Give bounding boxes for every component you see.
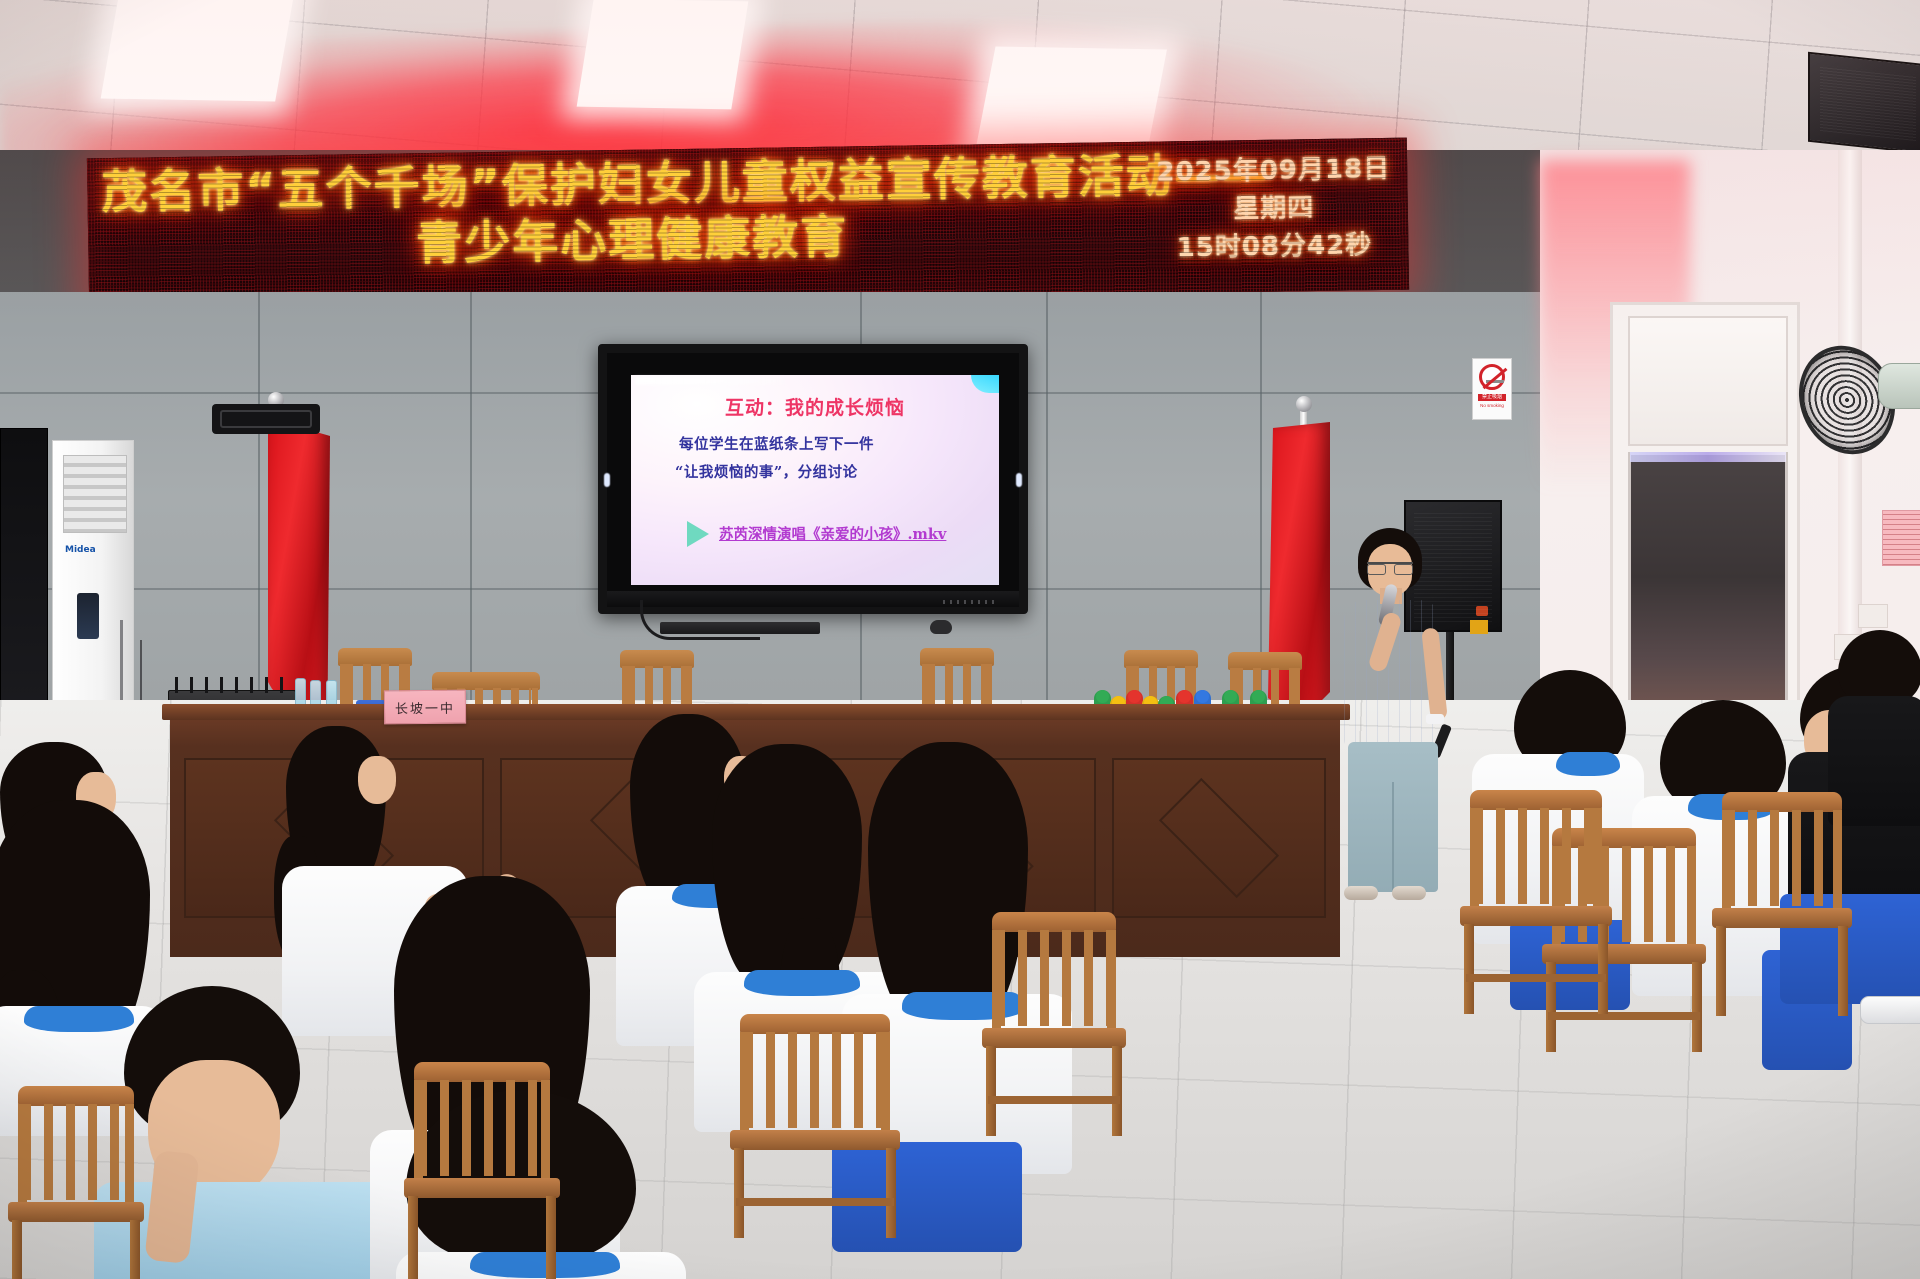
chair-seat[interactable] xyxy=(1712,908,1852,928)
slide-title: 互动：我的成长烦恼 xyxy=(631,393,999,420)
speaker-power-led xyxy=(1476,606,1488,616)
tv-wall-mount-bracket xyxy=(212,404,320,434)
chair-seat[interactable] xyxy=(730,1130,900,1150)
led-banner: 茂名市“五个千场”保护妇女儿童权益宣传教育活动—— 青少年心理健康教育 2025… xyxy=(87,138,1409,311)
chair-leg xyxy=(1112,1046,1122,1136)
bezel-led-right xyxy=(1016,473,1022,487)
chair-leg xyxy=(886,1148,896,1238)
screen-glare-reflection xyxy=(635,377,785,385)
no-smoking-label-cn: 禁止吸烟 xyxy=(1478,394,1506,401)
chair-top-rail xyxy=(18,1086,134,1106)
chair-seat[interactable] xyxy=(8,1202,144,1222)
chair-leg xyxy=(986,1046,996,1136)
cigarette-icon xyxy=(1486,380,1504,383)
presenter xyxy=(1330,528,1460,928)
presenter-trousers xyxy=(1348,742,1438,892)
door-transom-panel xyxy=(1628,316,1788,446)
chair-stretcher xyxy=(1466,974,1606,982)
led-weekday: 星期四 xyxy=(1154,188,1395,230)
wooden-chair[interactable] xyxy=(740,1014,890,1279)
led-banner-datetime: 2025年09月18日 星期四 15时08分42秒 xyxy=(1153,150,1395,268)
chair-side-stiles xyxy=(18,1104,134,1204)
chair-top-rail xyxy=(414,1062,550,1082)
wall-socket[interactable] xyxy=(1858,604,1888,628)
chair-leg xyxy=(546,1196,556,1279)
red-flag-left xyxy=(268,418,330,718)
chair-side-stiles xyxy=(1722,810,1842,910)
wooden-chair[interactable] xyxy=(992,912,1116,1152)
cable-tape-marker xyxy=(1470,620,1488,634)
led-date: 2025年09月18日 xyxy=(1153,150,1394,192)
glasses-icon xyxy=(1367,562,1413,572)
table-name-sign: 长坡一中 xyxy=(384,690,466,725)
board-cable xyxy=(640,600,760,640)
student-left-4 xyxy=(104,986,404,1279)
chair-leg xyxy=(1692,962,1702,1052)
bezel-led-left xyxy=(604,473,610,487)
chair-leg xyxy=(1838,926,1848,1016)
chair-stretcher xyxy=(988,1096,1120,1104)
smart-board-control-dots[interactable] xyxy=(943,600,995,604)
wooden-chair[interactable] xyxy=(414,1062,550,1279)
play-triangle-icon xyxy=(687,521,709,547)
wooden-chair[interactable] xyxy=(1722,792,1842,1062)
no-smoking-label-en: No smoking xyxy=(1480,403,1504,408)
keyboard[interactable] xyxy=(660,622,820,634)
wall-fan[interactable] xyxy=(1800,335,1920,463)
wooden-chair[interactable] xyxy=(1470,790,1602,1070)
chair-seat[interactable] xyxy=(1460,906,1612,926)
wall-seam xyxy=(258,292,260,722)
presenter-shoe xyxy=(1392,886,1426,900)
chair-leg xyxy=(1464,924,1474,1014)
aircon-display-panel[interactable] xyxy=(77,593,99,639)
no-smoking-sign: 禁止吸烟 No smoking xyxy=(1472,358,1512,420)
led-banner-headline: 茂名市“五个千场”保护妇女儿童权益宣传教育活动—— 青少年心理健康教育 xyxy=(101,148,1163,277)
door-glass-highlight xyxy=(1630,452,1786,462)
podium-panel xyxy=(1112,758,1326,918)
ceiling-light-panel-2 xyxy=(577,0,749,109)
wall-poster xyxy=(1882,510,1920,566)
smart-board[interactable]: 互动：我的成长烦恼 每位学生在蓝纸条上写下一件 “让我烦恼的事”，分组讨论 苏芮… xyxy=(598,344,1028,614)
student-hair xyxy=(1838,630,1920,704)
chair-top-rail xyxy=(992,912,1116,932)
ceiling xyxy=(0,0,1920,168)
chair-leg xyxy=(130,1220,140,1279)
student-face xyxy=(358,756,396,804)
ceiling-speaker xyxy=(1808,52,1920,155)
uniform-collar xyxy=(1556,752,1620,776)
flag-finial-right xyxy=(1296,396,1312,412)
chair-top-rail xyxy=(1722,792,1842,812)
aircon-vent-louvers xyxy=(63,455,127,533)
wall-seam xyxy=(1046,292,1048,722)
presenter-shoe xyxy=(1344,886,1378,900)
chair-side-stiles xyxy=(414,1080,550,1180)
chair-leg xyxy=(1598,924,1608,1014)
wooden-chair[interactable] xyxy=(18,1086,134,1279)
fan-motor-housing xyxy=(1878,363,1920,409)
aircon-brand-label: Midea xyxy=(65,545,96,555)
chair-side-stiles xyxy=(1470,808,1602,908)
no-smoking-icon xyxy=(1479,364,1505,390)
chair-leg xyxy=(408,1196,418,1279)
chair-seat[interactable] xyxy=(404,1178,560,1198)
chair-leg xyxy=(1716,926,1726,1016)
chair-top-rail xyxy=(740,1014,890,1034)
led-time: 15时08分42秒 xyxy=(1154,226,1395,268)
chair-side-stiles xyxy=(992,930,1116,1030)
chair-leg xyxy=(12,1220,22,1279)
slide-body-line-2: “让我烦恼的事”，分组讨论 xyxy=(675,461,858,482)
smart-board-screen[interactable]: 互动：我的成长烦恼 每位学生在蓝纸条上写下一件 “让我烦恼的事”，分组讨论 苏芮… xyxy=(631,375,999,585)
panel-diamond-inlay xyxy=(1159,778,1279,898)
slide-media-link[interactable]: 苏芮深情演唱《亲爱的小孩》.mkv xyxy=(719,523,946,544)
chair-stretcher xyxy=(736,1198,894,1206)
door-glass-panel[interactable] xyxy=(1628,452,1788,730)
mouse[interactable] xyxy=(930,620,952,634)
chair-seat[interactable] xyxy=(982,1028,1126,1048)
chair-side-stiles xyxy=(740,1032,890,1132)
slide-body-line-1: 每位学生在蓝纸条上写下一件 xyxy=(679,433,874,454)
wristwatch xyxy=(1426,714,1444,724)
student-shoe xyxy=(1860,996,1920,1024)
side-monitor xyxy=(0,428,48,728)
uniform-collar xyxy=(744,970,860,996)
chair-top-rail xyxy=(1470,790,1602,810)
ceiling-light-panel-1 xyxy=(101,0,299,102)
chair-leg xyxy=(734,1148,744,1238)
wall-seam xyxy=(470,292,472,722)
conference-room-photo: 茂名市“五个千场”保护妇女儿童权益宣传教育活动—— 青少年心理健康教育 2025… xyxy=(0,0,1920,1279)
